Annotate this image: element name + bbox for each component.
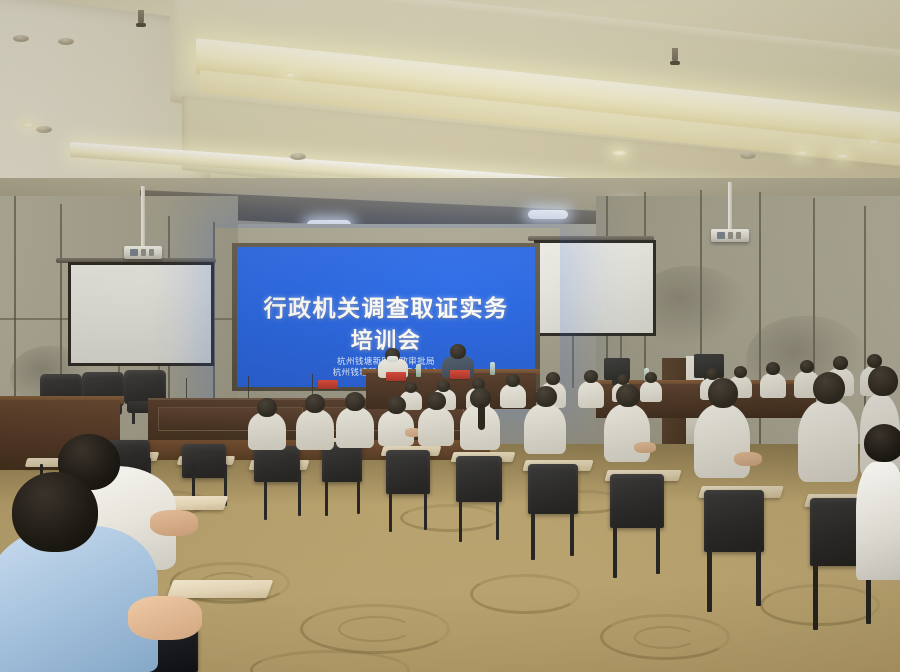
microphone-stand [248,376,249,400]
person-head [766,362,780,375]
audience-chair [528,464,578,514]
person-head [427,392,446,410]
person-head [305,394,325,413]
chair-leg [132,412,135,424]
chair-leg [570,512,574,556]
audience-member-ponytail [460,388,500,450]
person-torso [694,404,750,478]
person-head [257,398,277,417]
chair-leg [613,526,617,578]
person-head [734,366,747,378]
ceiling-downlight-icon [835,153,850,159]
carpet-swirl [470,574,580,614]
projection-screen-right [534,240,656,336]
chair-leg [424,492,427,530]
chair-leg [656,526,660,574]
ceiling-downlight-icon [866,139,881,145]
projector-drop-pole-right [728,182,732,230]
audience-member [418,392,454,446]
person-torso [500,384,526,408]
speaker-head [450,344,466,359]
audience-chair [610,474,664,528]
chair-leg [531,512,535,560]
foreground-person-blue-shirt [0,492,158,672]
chair-leg [459,500,462,542]
audience-member [798,372,858,482]
chair-leg [325,480,328,516]
projector-vent-icon [149,249,154,256]
audience-chair [386,450,430,494]
person-torso [760,373,786,398]
audience-member [500,374,526,408]
chair-leg [298,470,301,516]
water-bottle [490,362,495,375]
projector-drop-pole-left [141,186,145,246]
person-head [868,366,898,396]
person-torso [856,462,900,580]
chair-leg [707,550,712,612]
audience-member [296,394,334,450]
ceiling-detector-icon [740,152,756,159]
screen-strut [572,336,574,388]
face-mask [387,356,398,362]
projector-lens-icon [717,232,725,239]
person-torso [418,407,454,446]
person-head [546,372,560,385]
person-torso [0,526,158,672]
projector-vent-icon [141,249,146,256]
person-head [616,384,640,407]
person-torso [248,412,286,450]
person-torso [798,400,858,482]
carpet-swirl [338,616,412,642]
sprinkler-head-icon [672,48,678,62]
person-head [12,472,98,552]
led-title-line-1: 行政机关调查取证实务 [237,289,535,323]
audience-member [336,392,374,448]
audience-member [378,396,414,446]
person-head [708,378,738,408]
foreground-tablet-desk [167,580,274,598]
projection-surface-right [537,243,653,333]
carpet-swirl [400,504,500,532]
projector-right [711,229,749,242]
person-head [437,380,450,392]
audience-chair [456,456,502,502]
water-bottle [416,364,421,377]
projector-left [124,246,162,259]
audience-member [248,398,286,450]
person-head [387,396,406,414]
audience-member [524,386,566,454]
name-placard [386,372,406,381]
audience-chair [704,490,764,552]
ceiling-detector-icon [58,38,74,45]
person-head [405,382,417,393]
conference-room-photograph: 行政机关调查取证实务 培训会 杭州钱塘新区行政审批局 杭州钱塘新区政务服务中心 … [0,0,900,672]
person-head [833,356,848,370]
foreground-person-right [856,430,900,580]
audience-chair [254,446,300,482]
projection-surface-left [71,265,211,363]
chair-leg [496,500,499,540]
person-arm [734,452,762,466]
chair-leg [389,492,392,532]
audience-member [760,362,786,398]
chair-leg [264,470,267,520]
person-torso [524,404,566,454]
ceiling-detector-icon [36,126,52,133]
ceiling-downlight-icon [612,150,627,156]
ceiling-downlight-icon [21,122,36,128]
person-ponytail [478,404,485,430]
sprinkler-head-icon [138,10,144,24]
person-head [645,372,657,383]
person-torso [604,404,650,462]
person-head [345,392,365,411]
recessed-strip-light-right [528,210,568,219]
name-placard [318,380,338,389]
audience-member [578,370,604,408]
chair-leg [756,550,761,606]
person-head [813,372,845,404]
projector-vent-icon [736,232,741,239]
person-torso [336,407,374,448]
microphone-stand [186,378,187,400]
projector-vent-icon [728,232,733,239]
ceiling-detector-icon [13,35,29,42]
person-torso [296,409,334,450]
ceiling-downlight-icon [283,72,298,78]
foreground-arm [128,596,202,640]
projector-lens-icon [130,249,138,256]
projection-screen-left [68,262,214,366]
person-head [864,424,900,462]
carpet-swirl [760,584,880,626]
person-torso [578,381,604,408]
chair-leg [813,564,818,630]
person-head [535,386,557,407]
person-head [506,374,520,387]
chair-leg [357,480,360,514]
ceiling-detector-icon [290,153,306,160]
audience-chair [182,444,226,478]
carpet-swirl [634,626,696,649]
person-arm [634,442,656,453]
ceiling [0,0,900,200]
person-head [584,370,598,383]
ceiling-downlight-icon [795,150,810,156]
